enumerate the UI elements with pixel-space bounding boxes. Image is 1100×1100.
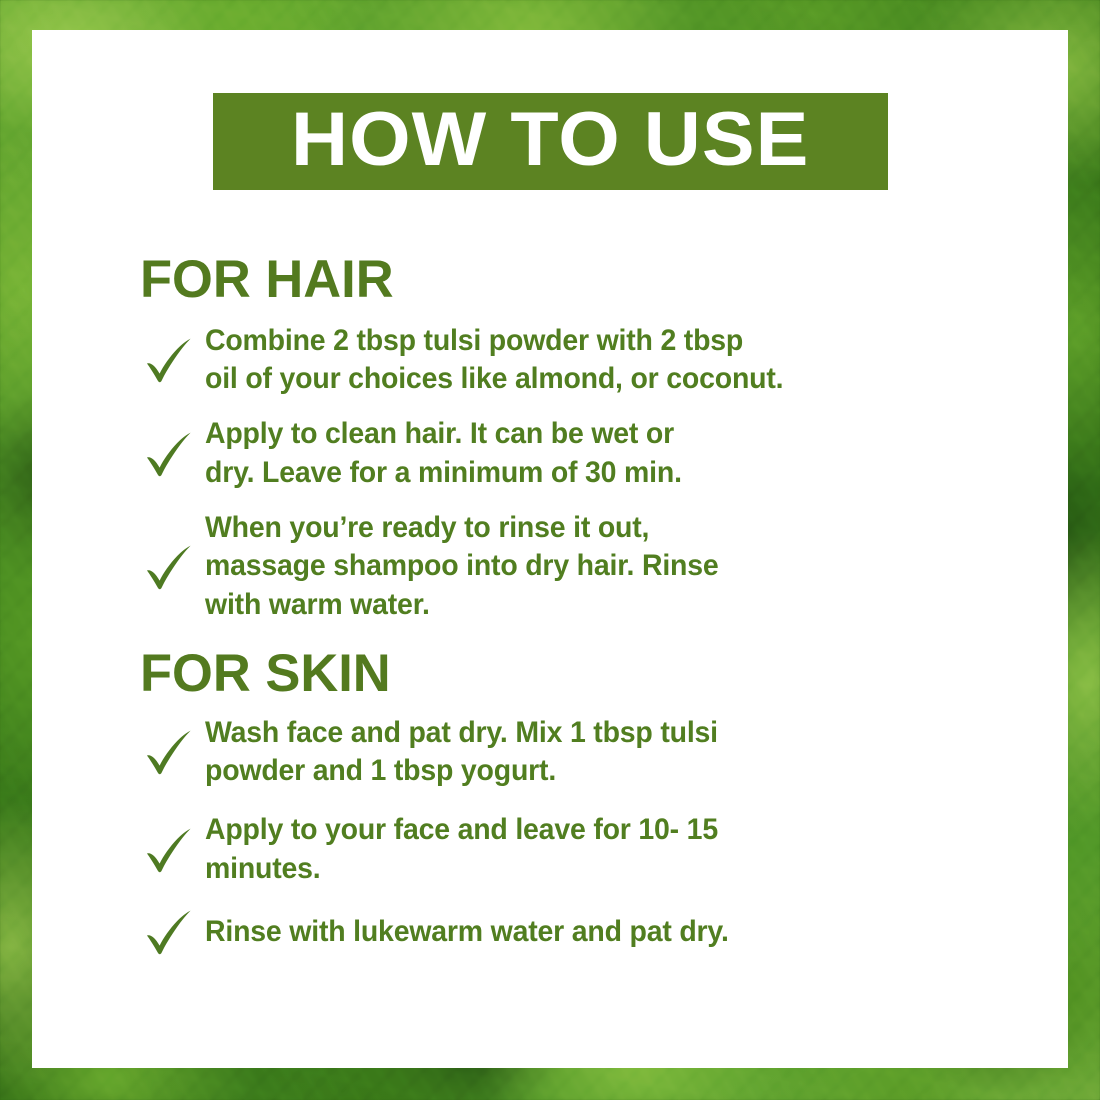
section-for-skin: FOR SKIN Wash face and pat dry. Mix 1 tb… <box>140 646 1020 955</box>
check-icon <box>143 431 195 477</box>
content-card: HOW TO USE FOR HAIR Combine 2 tbsp tulsi… <box>32 30 1068 1068</box>
list-item: Apply to clean hair. It can be wet or dr… <box>140 415 1020 492</box>
list-item-text: Apply to clean hair. It can be wet or dr… <box>205 415 682 492</box>
instructions-content: FOR HAIR Combine 2 tbsp tulsi powder wit… <box>140 252 1020 976</box>
list-item-text: Wash face and pat dry. Mix 1 tbsp tulsi … <box>205 714 718 791</box>
check-icon <box>143 544 195 590</box>
poster-root: HOW TO USE FOR HAIR Combine 2 tbsp tulsi… <box>0 0 1100 1100</box>
list-item: When you’re ready to rinse it out, massa… <box>140 509 1020 624</box>
list-item: Wash face and pat dry. Mix 1 tbsp tulsi … <box>140 714 1020 791</box>
list-item-text: When you’re ready to rinse it out, massa… <box>205 509 719 624</box>
section-heading-for-skin: FOR SKIN <box>140 646 1011 702</box>
list-item-text: Combine 2 tbsp tulsi powder with 2 tbsp … <box>205 322 783 399</box>
list-item: Rinse with lukewarm water and pat dry. <box>140 909 1020 955</box>
section-heading-for-hair: FOR HAIR <box>140 252 1011 308</box>
check-icon <box>143 337 195 383</box>
list-item-text: Apply to your face and leave for 10- 15 … <box>205 811 718 888</box>
check-icon <box>143 827 195 873</box>
check-icon <box>143 909 195 955</box>
page-title: HOW TO USE <box>291 102 809 178</box>
list-item: Combine 2 tbsp tulsi powder with 2 tbsp … <box>140 322 1020 399</box>
check-icon <box>143 729 195 775</box>
section-for-hair: FOR HAIR Combine 2 tbsp tulsi powder wit… <box>140 252 1020 624</box>
list-item: Apply to your face and leave for 10- 15 … <box>140 811 1020 888</box>
list-item-text: Rinse with lukewarm water and pat dry. <box>205 913 729 951</box>
title-banner: HOW TO USE <box>213 93 888 190</box>
